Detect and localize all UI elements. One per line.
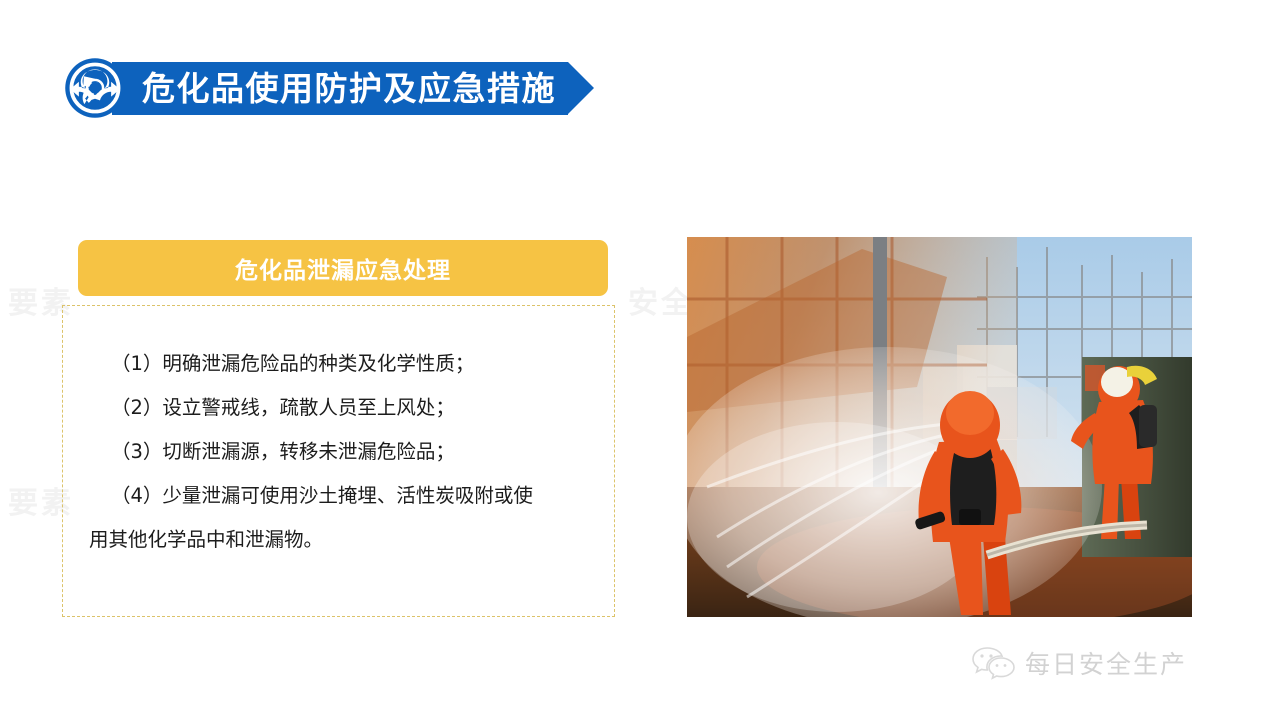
- section-title: 危化品泄漏应急处理: [235, 251, 451, 285]
- content-line: 用其他化学品中和泄漏物。: [89, 518, 588, 562]
- section-header: 危化品泄漏应急处理: [78, 240, 608, 296]
- banner-body: 危化品使用防护及应急措施: [112, 62, 568, 115]
- wechat-credit-label: 每日安全生产: [1025, 645, 1187, 681]
- wechat-icon: [972, 646, 1016, 680]
- biohazard-icon: [64, 57, 126, 119]
- page-title-banner: 危化品使用防护及应急措施: [64, 57, 568, 119]
- background-watermark: 安全: [628, 278, 694, 322]
- content-line: （3）切断泄漏源，转移未泄漏危险品；: [89, 430, 588, 474]
- content-line: （1）明确泄漏危险品的种类及化学性质；: [89, 342, 588, 386]
- page-title: 危化品使用防护及应急措施: [142, 72, 556, 105]
- content-line: （4）少量泄漏可使用沙土掩埋、活性炭吸附或使: [89, 474, 588, 518]
- left-content-panel: 危化品泄漏应急处理 （1）明确泄漏危险品的种类及化学性质； （2）设立警戒线，疏…: [62, 240, 616, 617]
- content-line: （2）设立警戒线，疏散人员至上风处；: [89, 386, 588, 430]
- wechat-credit: 每日安全生产: [972, 645, 1187, 681]
- incident-photo: [687, 237, 1192, 617]
- section-content-box: （1）明确泄漏危险品的种类及化学性质； （2）设立警戒线，疏散人员至上风处； （…: [62, 305, 615, 617]
